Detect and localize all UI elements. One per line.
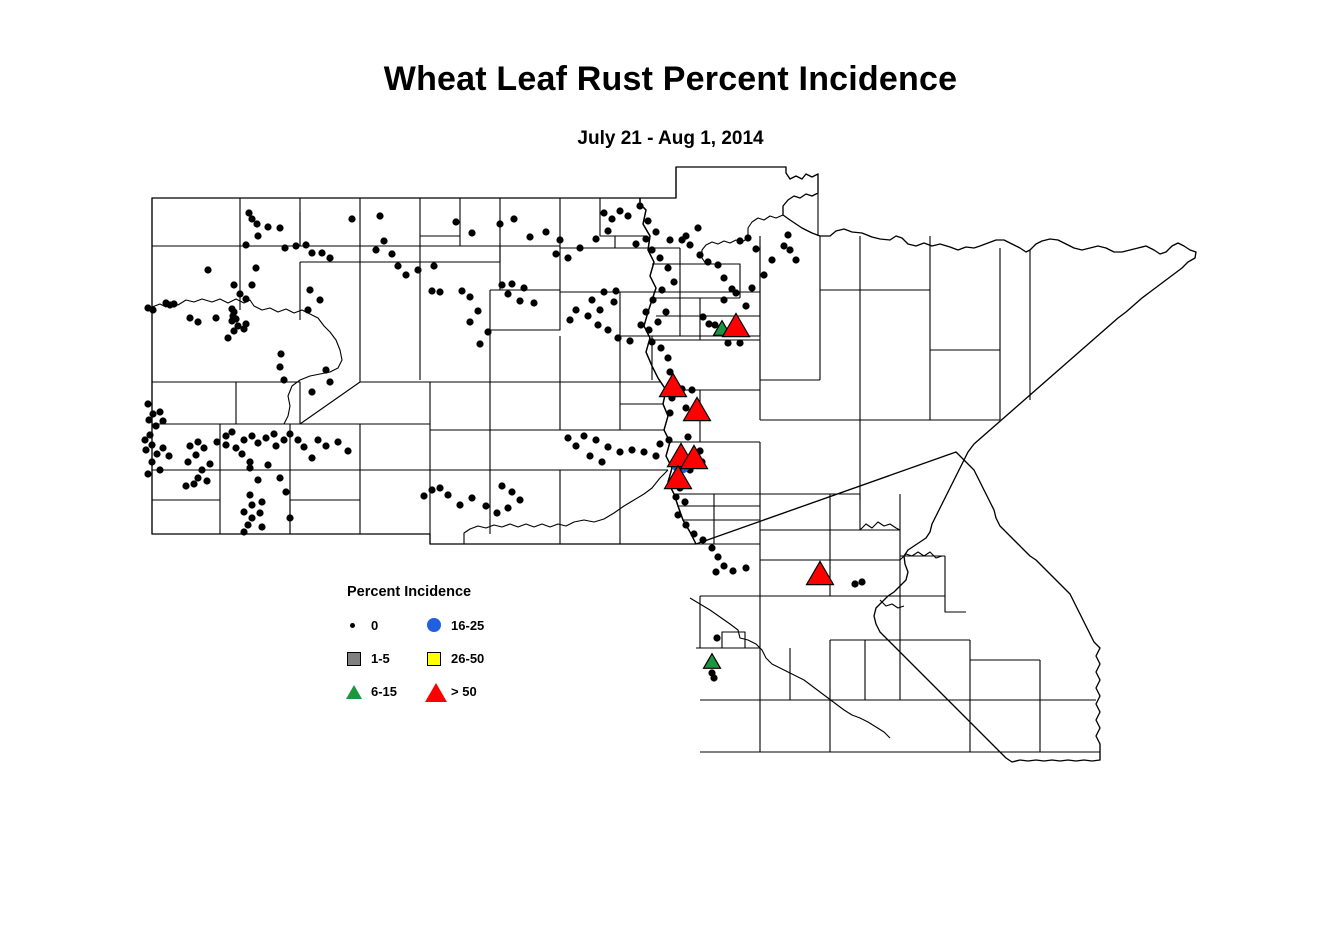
incidence-marker: [245, 522, 251, 528]
incidence-marker: [247, 492, 253, 498]
incidence-marker: [645, 218, 651, 224]
incidence-marker: [223, 433, 229, 439]
nd-mid-line-1: [284, 382, 660, 424]
incidence-marker: [517, 497, 523, 503]
incidence-marker: [665, 265, 671, 271]
incidence-marker: [323, 443, 329, 449]
nd-mid-line-3: [152, 382, 236, 424]
mn-county-n22: [860, 290, 930, 420]
nd-south-line-8: [290, 470, 360, 500]
legend-item-26-50: 26-50: [425, 649, 484, 667]
incidence-marker: [609, 216, 615, 222]
incidence-marker: [565, 435, 571, 441]
incidence-marker: [665, 355, 671, 361]
incidence-marker: [193, 452, 199, 458]
incidence-marker: [309, 455, 315, 461]
incidence-marker: [157, 467, 163, 473]
legend-title: Percent Incidence: [347, 584, 575, 600]
incidence-marker: [573, 443, 579, 449]
mn-county-c17: [945, 596, 966, 612]
incidence-marker: [445, 492, 451, 498]
incidence-marker: [307, 287, 313, 293]
incidence-marker: [327, 255, 333, 261]
incidence-marker: [157, 409, 163, 415]
legend-label-16-25: 16-25: [451, 618, 484, 633]
incidence-marker: [265, 224, 271, 230]
incidence-marker: [247, 465, 253, 471]
mn-metro-2: [860, 522, 900, 530]
incidence-marker: [249, 216, 255, 222]
incidence-marker: [421, 493, 427, 499]
incidence-marker: [643, 236, 649, 242]
incidence-marker: [611, 299, 617, 305]
incidence-marker: [429, 288, 435, 294]
green-triangle-icon: [345, 682, 371, 700]
incidence-marker: [249, 282, 255, 288]
incidence-marker: [207, 461, 213, 467]
legend-column-right: 16-25 26-50 > 50: [425, 616, 484, 700]
incidence-marker: [154, 451, 160, 457]
incidence-marker: [601, 289, 607, 295]
incidence-marker: [517, 298, 523, 304]
legend-column-left: 0 1-5 6-15: [345, 616, 397, 700]
incidence-marker: [721, 563, 727, 569]
incidence-marker: [658, 345, 664, 351]
incidence-marker: [659, 287, 665, 293]
incidence-marker: [793, 257, 799, 263]
incidence-marker: [255, 233, 261, 239]
nd-mid-line-11: [560, 382, 620, 430]
incidence-marker: [213, 315, 219, 321]
incidence-marker: [477, 341, 483, 347]
incidence-marker: [593, 437, 599, 443]
incidence-marker: [469, 230, 475, 236]
nd-mid-line-7: [430, 380, 490, 430]
incidence-marker: [617, 449, 623, 455]
incidence-marker: [287, 515, 293, 521]
incidence-marker: [317, 297, 323, 303]
gray-square-icon: [345, 649, 371, 667]
nd-mid-line-8: [490, 382, 560, 430]
incidence-marker: [160, 445, 166, 451]
incidence-marker: [142, 437, 148, 443]
incidence-marker: [637, 203, 643, 209]
incidence-marker: [237, 291, 243, 297]
incidence-marker: [613, 288, 619, 294]
legend-label-gt50: > 50: [451, 684, 477, 699]
incidence-marker: [485, 329, 491, 335]
incidence-marker: [283, 489, 289, 495]
incidence-marker: [689, 387, 695, 393]
incidence-marker: [377, 213, 383, 219]
incidence-marker: [204, 478, 210, 484]
incidence-marker: [753, 246, 759, 252]
incidence-marker: [573, 307, 579, 313]
incidence-marker: [381, 238, 387, 244]
incidence-marker: [629, 447, 635, 453]
incidence-marker: [147, 432, 153, 438]
incidence-marker: [243, 321, 249, 327]
incidence-marker: [553, 251, 559, 257]
mn-county-c5: [760, 494, 830, 530]
incidence-marker: [683, 522, 689, 528]
incidence-marker: [277, 364, 283, 370]
legend-item-gt50: > 50: [425, 682, 484, 700]
incidence-marker: [733, 290, 739, 296]
legend-item-1-5: 1-5: [345, 649, 397, 667]
incidence-marker: [249, 433, 255, 439]
incidence-marker: [643, 309, 649, 315]
incidence-marker: [403, 272, 409, 278]
incidence-marker: [483, 503, 489, 509]
incidence-marker: [697, 252, 703, 258]
incidence-marker: [467, 319, 473, 325]
incidence-marker: [527, 234, 533, 240]
incidence-marker: [335, 439, 341, 445]
mn-county-sw11: [700, 700, 760, 752]
incidence-marker: [166, 453, 172, 459]
incidence-marker: [287, 431, 293, 437]
incidence-marker: [282, 245, 288, 251]
incidence-marker: [761, 272, 767, 278]
incidence-marker: [646, 327, 652, 333]
incidence-marker: [671, 279, 677, 285]
incidence-marker: [431, 263, 437, 269]
incidence-marker: [223, 442, 229, 448]
incidence-marker: [581, 433, 587, 439]
incidence-marker: [859, 579, 865, 585]
incidence-marker: [319, 250, 325, 256]
incidence-marker: [557, 237, 563, 243]
incidence-marker: [281, 377, 287, 383]
incidence-marker: [577, 245, 583, 251]
incidence-marker: [389, 251, 395, 257]
incidence-marker: [653, 229, 659, 235]
incidence-marker: [149, 459, 155, 465]
incidence-marker: [852, 581, 858, 587]
incidence-marker: [293, 243, 299, 249]
page-title: Wheat Leaf Rust Percent Incidence: [0, 60, 1341, 99]
incidence-marker: [595, 322, 601, 328]
incidence-marker: [467, 294, 473, 300]
incidence-marker: [737, 238, 743, 244]
incidence-marker: [667, 237, 673, 243]
small-dot-icon: [345, 616, 371, 634]
incidence-marker: [231, 309, 237, 315]
incidence-marker: [695, 225, 701, 231]
incidence-marker: [249, 502, 255, 508]
incidence-marker: [146, 417, 152, 423]
incidence-marker: [191, 481, 197, 487]
yellow-square-icon: [425, 649, 451, 667]
incidence-marker: [730, 568, 736, 574]
incidence-marker: [663, 309, 669, 315]
incidence-marker: [785, 232, 791, 238]
incidence-marker: [505, 291, 511, 297]
incidence-marker: [373, 247, 379, 253]
incidence-marker: [723, 313, 750, 336]
incidence-marker: [233, 445, 239, 451]
incidence-marker: [303, 242, 309, 248]
incidence-marker: [453, 219, 459, 225]
legend: Percent Incidence 0 1-5 6-15 16-25: [345, 584, 575, 714]
incidence-marker: [214, 439, 220, 445]
incidence-marker: [714, 635, 720, 641]
incidence-marker: [627, 338, 633, 344]
incidence-marker: [587, 453, 593, 459]
legend-label-6-15: 6-15: [371, 684, 397, 699]
incidence-marker: [143, 447, 149, 453]
incidence-marker: [667, 410, 673, 416]
incidence-marker: [241, 529, 247, 535]
incidence-marker: [241, 509, 247, 515]
incidence-marker: [201, 445, 207, 451]
mn-county-sw8: [900, 640, 970, 700]
legend-label-0: 0: [371, 618, 378, 633]
incidence-marker: [617, 208, 623, 214]
incidence-marker: [709, 545, 715, 551]
incidence-marker: [195, 319, 201, 325]
mn-county-sw3: [722, 632, 760, 648]
incidence-marker: [543, 229, 549, 235]
incidence-marker: [687, 242, 693, 248]
page-subtitle: July 21 - Aug 1, 2014: [0, 128, 1341, 150]
incidence-marker: [395, 263, 401, 269]
legend-label-1-5: 1-5: [371, 651, 390, 666]
incidence-marker: [706, 321, 712, 327]
mn-county-sw9: [970, 660, 1040, 700]
incidence-marker: [601, 210, 607, 216]
incidence-marker: [743, 565, 749, 571]
nd-tier-line-1b: [300, 236, 460, 246]
incidence-marker: [715, 554, 721, 560]
incidence-marker: [247, 459, 253, 465]
incidence-marker: [277, 475, 283, 481]
red-triangle-icon: [425, 682, 451, 700]
incidence-marker: [683, 405, 689, 411]
incidence-marker: [713, 569, 719, 575]
incidence-marker: [145, 401, 151, 407]
incidence-marker: [625, 213, 631, 219]
incidence-marker: [700, 537, 706, 543]
incidence-marker: [494, 510, 500, 516]
incidence-marker: [437, 289, 443, 295]
legend-label-26-50: 26-50: [451, 651, 484, 666]
incidence-marker: [199, 467, 205, 473]
incidence-marker: [149, 442, 155, 448]
incidence-marker: [509, 489, 515, 495]
incidence-marker: [649, 247, 655, 253]
incidence-marker: [691, 531, 697, 537]
nd-missouri-river: [152, 299, 342, 424]
incidence-marker: [241, 437, 247, 443]
incidence-marker: [229, 429, 235, 435]
mn-county-sw12: [760, 700, 830, 752]
incidence-marker: [721, 297, 727, 303]
nd-tier-line-2b: [420, 246, 500, 262]
incidence-marker: [531, 300, 537, 306]
incidence-marker: [457, 502, 463, 508]
mn-county-c11: [700, 560, 760, 596]
incidence-marker: [415, 267, 421, 273]
incidence-marker: [301, 444, 307, 450]
incidence-marker: [309, 389, 315, 395]
incidence-marker: [499, 282, 505, 288]
incidence-marker: [597, 307, 603, 313]
incidence-marker: [309, 250, 315, 256]
incidence-marker: [649, 339, 655, 345]
incidence-marker: [183, 483, 189, 489]
incidence-marker: [259, 499, 265, 505]
incidence-marker: [257, 510, 263, 516]
incidence-marker: [660, 373, 687, 396]
incidence-marker: [305, 307, 311, 313]
incidence-marker: [469, 495, 475, 501]
incidence-marker: [565, 255, 571, 261]
incidence-marker: [673, 494, 679, 500]
incidence-marker: [150, 307, 156, 313]
incidence-marker: [281, 437, 287, 443]
incidence-marker: [585, 313, 591, 319]
incidence-marker: [195, 439, 201, 445]
incidence-marker: [259, 524, 265, 530]
incidence-marker: [745, 235, 751, 241]
incidence-marker: [187, 315, 193, 321]
incidence-marker: [349, 216, 355, 222]
incidence-marker: [725, 340, 731, 346]
incidence-marker: [243, 242, 249, 248]
incidence-marker: [160, 418, 166, 424]
incidence-marker: [511, 216, 517, 222]
incidence-marker: [521, 285, 527, 291]
incidence-marker: [749, 285, 755, 291]
incidence-marker: [683, 233, 689, 239]
incidence-marker: [150, 411, 156, 417]
incidence-marker: [704, 654, 721, 669]
incidence-marker: [712, 322, 718, 328]
incidence-marker: [459, 288, 465, 294]
legend-item-0: 0: [345, 616, 397, 634]
incidence-marker: [255, 440, 261, 446]
incidence-marker: [589, 297, 595, 303]
incidence-marker: [633, 241, 639, 247]
incidence-marker: [295, 437, 301, 443]
incidence-marker: [475, 308, 481, 314]
incidence-marker: [429, 487, 435, 493]
incidence-marker: [263, 435, 269, 441]
incidence-marker: [271, 431, 277, 437]
mn-county-n10: [760, 340, 820, 380]
incidence-marker: [253, 265, 259, 271]
mn-county-sw14: [900, 700, 970, 752]
incidence-marker: [185, 459, 191, 465]
incidence-marker: [781, 243, 787, 249]
incidence-marker: [243, 296, 249, 302]
incidence-marker: [657, 441, 663, 447]
incidence-marker: [497, 221, 503, 227]
incidence-marker: [675, 512, 681, 518]
incidence-marker: [225, 335, 231, 341]
incidence-marker: [638, 322, 644, 328]
incidence-marker: [666, 437, 672, 443]
incidence-marker: [653, 453, 659, 459]
mn-state-outline: [640, 167, 1196, 762]
incidence-marker: [246, 210, 252, 216]
incidence-marker: [650, 297, 656, 303]
incidence-marker: [605, 444, 611, 450]
incidence-marker: [265, 462, 271, 468]
incidence-marker: [509, 281, 515, 287]
incidence-marker: [655, 319, 661, 325]
nd-county-line-n10: [490, 290, 560, 330]
mn-nw-angle: [640, 167, 676, 198]
mn-county-c9: [760, 530, 830, 560]
blue-circle-icon: [425, 616, 451, 634]
incidence-marker: [711, 675, 717, 681]
incidence-marker: [682, 499, 688, 505]
legend-item-6-15: 6-15: [345, 682, 397, 700]
incidence-marker: [685, 434, 691, 440]
nd-state-outline: [152, 198, 696, 544]
incidence-marker: [195, 475, 201, 481]
incidence-marker: [737, 340, 743, 346]
incidence-marker: [700, 314, 706, 320]
incidence-marker: [605, 228, 611, 234]
incidence-marker: [721, 275, 727, 281]
incidence-marker: [153, 423, 159, 429]
incidence-marker: [605, 327, 611, 333]
incidence-marker: [599, 459, 605, 465]
nd-tier-line-5: [560, 248, 680, 292]
incidence-marker: [273, 443, 279, 449]
incidence-marker: [254, 221, 260, 227]
incidence-marker: [231, 328, 237, 334]
incidence-marker: [277, 225, 283, 231]
nd-missouri-south: [464, 470, 668, 544]
incidence-marker: [231, 282, 237, 288]
incidence-marker: [205, 267, 211, 273]
incidence-marker: [345, 448, 351, 454]
incidence-marker: [641, 449, 647, 455]
incidence-marker: [615, 335, 621, 341]
incidence-marker: [315, 437, 321, 443]
nd-tier-line-6: [680, 246, 760, 292]
incidence-marker: [323, 367, 329, 373]
incidence-marker: [278, 351, 284, 357]
incidence-marker: [787, 247, 793, 253]
incidence-marker: [567, 317, 573, 323]
nd-county-line-n4: [420, 198, 460, 236]
legend-item-16-25: 16-25: [425, 616, 484, 634]
incidence-marker: [327, 379, 333, 385]
nd-mid-line-2: [236, 382, 300, 424]
incidence-marker: [743, 303, 749, 309]
incidence-marker: [145, 471, 151, 477]
incidence-marker: [171, 301, 177, 307]
incidence-marker: [715, 262, 721, 268]
incidence-marker: [657, 255, 663, 261]
incidence-marker: [505, 505, 511, 511]
incidence-marker: [249, 515, 255, 521]
incidence-marker: [499, 483, 505, 489]
incidence-marker: [437, 485, 443, 491]
incidence-marker: [187, 443, 193, 449]
incidence-marker: [705, 259, 711, 265]
incidence-marker: [769, 257, 775, 263]
incidence-marker: [239, 451, 245, 457]
incidence-marker: [255, 477, 261, 483]
incidence-marker: [593, 236, 599, 242]
